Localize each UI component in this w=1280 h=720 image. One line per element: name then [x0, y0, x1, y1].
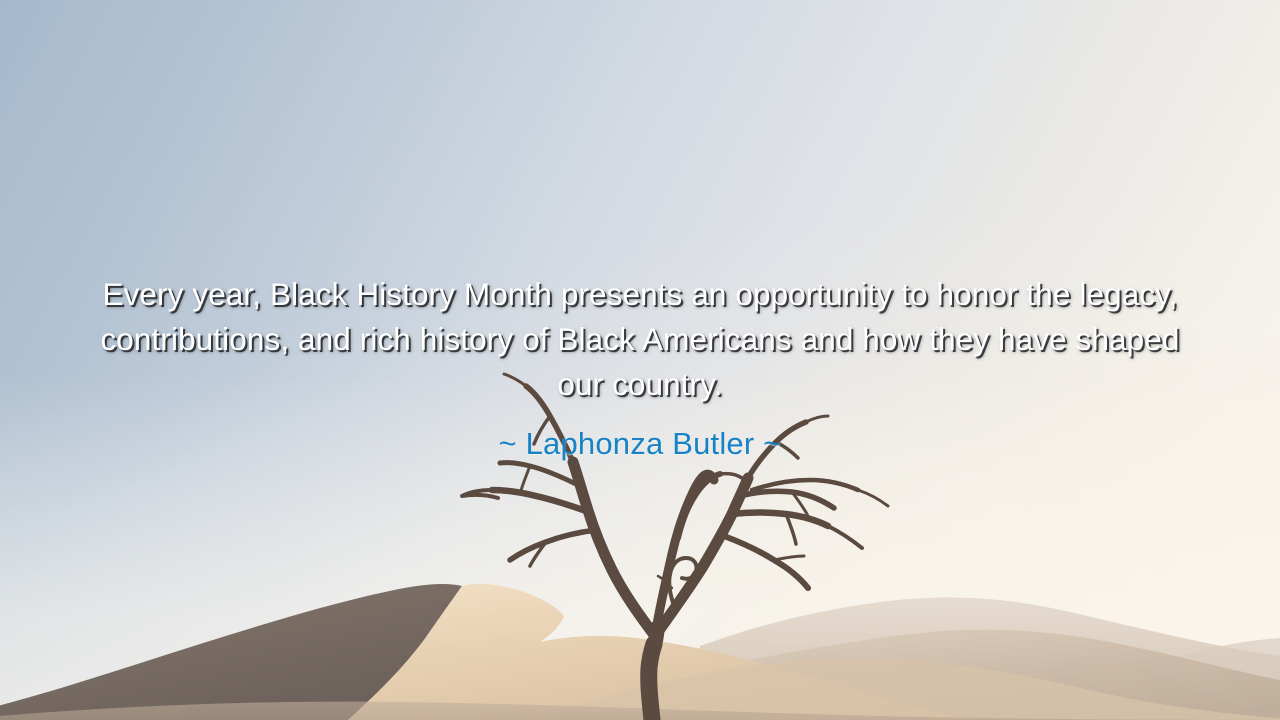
tree-branch-right-b2 — [774, 556, 804, 560]
tree-branch-left-b — [510, 530, 596, 560]
tree-branch-right-a — [732, 513, 828, 527]
tree-branch-left-a2 — [462, 490, 498, 498]
tree-branch-left-c — [540, 477, 578, 558]
quote-text: Every year, Black History Month presents… — [96, 272, 1184, 407]
quote-block: Every year, Black History Month presents… — [0, 272, 1280, 463]
tree-branch-left-d2 — [520, 466, 530, 494]
tree-trunk — [649, 644, 654, 720]
quote-author: ~ Laphonza Butler ~ — [96, 425, 1184, 463]
quote-image-canvas: Every year, Black History Month presents… — [0, 0, 1280, 720]
tree-limb-left-main — [573, 462, 655, 636]
tree-branch-right-out — [752, 480, 858, 490]
tree-branch-right-out2 — [858, 490, 888, 506]
tree-branch-right-c — [740, 491, 834, 508]
tree-branch-center-shoot2 — [720, 474, 742, 478]
tree-branch-left-d — [500, 463, 580, 486]
tree-branch-right-a3 — [828, 526, 862, 548]
tree-branch-left-a — [492, 490, 589, 512]
